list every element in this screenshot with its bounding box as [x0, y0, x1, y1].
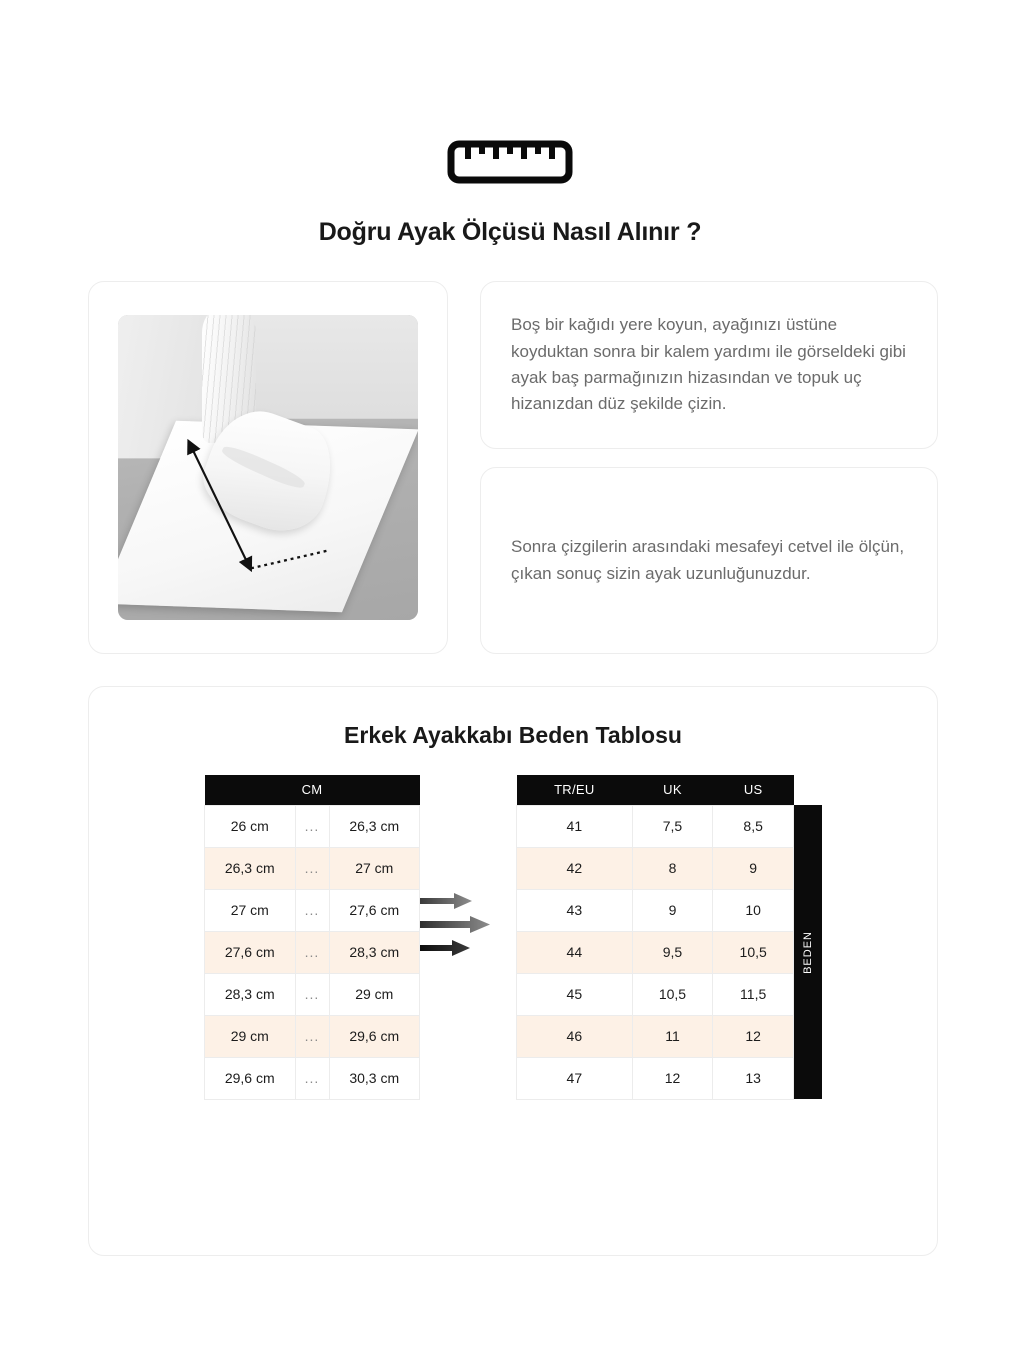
beden-side-label: BEDEN: [794, 805, 822, 1099]
size-table-row: 449,510,5: [517, 931, 794, 973]
size-table: TR/EUUKUS 417,58,5428943910449,510,54510…: [516, 775, 794, 1100]
size-uk-cell: 12: [632, 1057, 713, 1099]
size-header-cell-us: US: [713, 775, 794, 805]
size-table-row: 43910: [517, 889, 794, 931]
ruler-icon-container: [0, 140, 1020, 184]
cm-header-row: CM: [205, 775, 420, 805]
cm-separator-cell: ...: [295, 889, 329, 931]
size-tables-wrapper: CM 26 cm...26,3 cm26,3 cm...27 cm27 cm..…: [89, 775, 937, 1100]
cm-table-body: 26 cm...26,3 cm26,3 cm...27 cm27 cm...27…: [205, 805, 420, 1099]
cm-to-cell: 29,6 cm: [329, 1015, 420, 1057]
beden-side-label-text: BEDEN: [802, 931, 814, 974]
cm-from-cell: 29,6 cm: [205, 1057, 296, 1099]
size-table-row: 4289: [517, 847, 794, 889]
size-table-row: 417,58,5: [517, 805, 794, 847]
cm-to-cell: 26,3 cm: [329, 805, 420, 847]
instruction-card-1: Boş bir kağıdı yere koyun, ayağınızı üst…: [480, 281, 938, 449]
cm-separator-cell: ...: [295, 805, 329, 847]
cm-table-head: CM: [205, 775, 420, 805]
cm-header-cell: CM: [205, 775, 420, 805]
instruction-text-2: Sonra çizgilerin arasındaki mesafeyi cet…: [511, 534, 907, 587]
instruction-text-column: Boş bir kağıdı yere koyun, ayağınızı üst…: [480, 281, 938, 654]
size-us-cell: 12: [713, 1015, 794, 1057]
cm-table-row: 27,6 cm...28,3 cm: [205, 931, 420, 973]
size-uk-cell: 7,5: [632, 805, 713, 847]
cm-to-cell: 28,3 cm: [329, 931, 420, 973]
cm-from-cell: 26,3 cm: [205, 847, 296, 889]
ruler-icon: [447, 140, 573, 184]
cm-to-cell: 27 cm: [329, 847, 420, 889]
foot-measurement-photo: [118, 315, 418, 620]
cm-from-cell: 28,3 cm: [205, 973, 296, 1015]
size-uk-cell: 10,5: [632, 973, 713, 1015]
arrow-right-icon-1: [420, 893, 472, 909]
size-treu-cell: 41: [517, 805, 633, 847]
size-uk-cell: 8: [632, 847, 713, 889]
arrow-right-icon-2: [420, 916, 490, 933]
size-us-cell: 10: [713, 889, 794, 931]
size-treu-cell: 42: [517, 847, 633, 889]
cm-separator-cell: ...: [295, 973, 329, 1015]
size-us-cell: 8,5: [713, 805, 794, 847]
size-table-head: TR/EUUKUS: [517, 775, 794, 805]
size-table-row: 471213: [517, 1057, 794, 1099]
cm-separator-cell: ...: [295, 1057, 329, 1099]
size-table-row: 461112: [517, 1015, 794, 1057]
size-guide-page: Doğru Ayak Ölçüsü Nasıl Alınır ?: [0, 0, 1020, 1360]
size-treu-cell: 43: [517, 889, 633, 931]
size-treu-cell: 46: [517, 1015, 633, 1057]
photo-wall-right: [244, 315, 418, 419]
cm-table-row: 28,3 cm...29 cm: [205, 973, 420, 1015]
size-header-cell-tr-eu: TR/EU: [517, 775, 633, 805]
size-us-cell: 13: [713, 1057, 794, 1099]
cm-separator-cell: ...: [295, 931, 329, 973]
size-treu-cell: 47: [517, 1057, 633, 1099]
conversion-arrows: [420, 775, 516, 956]
cm-from-cell: 27 cm: [205, 889, 296, 931]
cm-table-row: 27 cm...27,6 cm: [205, 889, 420, 931]
cm-from-cell: 27,6 cm: [205, 931, 296, 973]
size-us-cell: 11,5: [713, 973, 794, 1015]
size-header-cell-uk: UK: [632, 775, 713, 805]
cm-separator-cell: ...: [295, 847, 329, 889]
cm-to-cell: 29 cm: [329, 973, 420, 1015]
cm-table-row: 29 cm...29,6 cm: [205, 1015, 420, 1057]
page-title: Doğru Ayak Ölçüsü Nasıl Alınır ?: [0, 218, 1020, 247]
cm-from-cell: 29 cm: [205, 1015, 296, 1057]
cm-separator-cell: ...: [295, 1015, 329, 1057]
arrow-right-icon-3: [420, 940, 470, 956]
instruction-photo-card: [88, 281, 448, 654]
size-chart-card: Erkek Ayakkabı Beden Tablosu CM 26 cm...…: [88, 686, 938, 1256]
size-us-cell: 10,5: [713, 931, 794, 973]
cm-table-row: 26,3 cm...27 cm: [205, 847, 420, 889]
cm-table: CM 26 cm...26,3 cm26,3 cm...27 cm27 cm..…: [204, 775, 420, 1100]
instruction-card-2: Sonra çizgilerin arasındaki mesafeyi cet…: [480, 467, 938, 654]
instruction-text-1: Boş bir kağıdı yere koyun, ayağınızı üst…: [511, 312, 907, 417]
size-us-cell: 9: [713, 847, 794, 889]
size-header-row: TR/EUUKUS: [517, 775, 794, 805]
size-table-body: 417,58,5428943910449,510,54510,511,54611…: [517, 805, 794, 1099]
instructions-row: Boş bir kağıdı yere koyun, ayağınızı üst…: [88, 281, 938, 654]
size-uk-cell: 11: [632, 1015, 713, 1057]
size-treu-cell: 45: [517, 973, 633, 1015]
size-chart-title: Erkek Ayakkabı Beden Tablosu: [89, 722, 937, 749]
size-table-row: 4510,511,5: [517, 973, 794, 1015]
cm-to-cell: 27,6 cm: [329, 889, 420, 931]
cm-table-row: 29,6 cm...30,3 cm: [205, 1057, 420, 1099]
size-uk-cell: 9,5: [632, 931, 713, 973]
cm-from-cell: 26 cm: [205, 805, 296, 847]
size-uk-cell: 9: [632, 889, 713, 931]
cm-to-cell: 30,3 cm: [329, 1057, 420, 1099]
cm-table-row: 26 cm...26,3 cm: [205, 805, 420, 847]
size-treu-cell: 44: [517, 931, 633, 973]
